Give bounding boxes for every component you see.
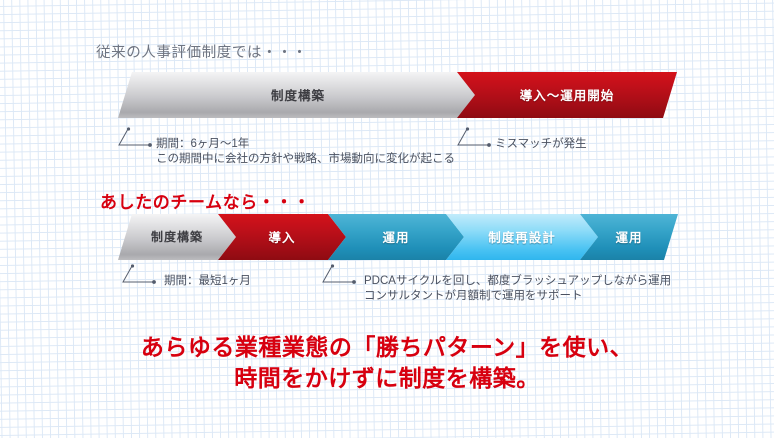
- summary-headline-text-2: 時間をかけずに制度を構築。: [232, 363, 542, 394]
- ashita-segment-label-5: 運用: [615, 227, 642, 246]
- summary-headline-line-2: 時間をかけずに制度を構築。: [0, 363, 774, 394]
- leader-line-icon: [122, 264, 162, 286]
- ashita-callout-pdca-line2: コンサルタントが月額制で運用をサポート: [364, 289, 671, 304]
- legacy-callout-mismatch-line1: ミスマッチが発生: [495, 138, 587, 150]
- leader-line-icon: [457, 127, 497, 149]
- legacy-process-bar: 制度構築 導入〜運用開始: [0, 72, 774, 120]
- ashita-segment-label-3: 運用: [382, 227, 409, 246]
- legacy-section-heading: 従来の人事評価制度では・・・: [96, 41, 307, 62]
- ashita-callout-duration-text: 期間：最短1ヶ月: [164, 274, 251, 289]
- summary-headline: あらゆる業種業態の「勝ちパターン」を使い、 時間をかけずに制度を構築。: [0, 332, 774, 394]
- legacy-segment-seido-kouchiku: 制度構築: [118, 72, 478, 118]
- ashita-callout-duration-line1: 期間：最短1ヶ月: [164, 275, 251, 287]
- ashita-segment-label-4: 制度再設計: [488, 227, 556, 246]
- legacy-segment-label-1: 制度構築: [271, 85, 325, 104]
- legacy-callout-duration-line2: この期間中に会社の方針や戦略、市場動向に変化が起こる: [156, 152, 455, 167]
- ashita-section-heading: あしたのチームなら・・・: [100, 188, 311, 213]
- ashita-segment-label-1: 制度構築: [151, 228, 203, 245]
- legacy-callout-mismatch-text: ミスマッチが発生: [495, 137, 587, 152]
- ashita-callout-pdca-text: PDCAサイクルを回し、都度ブラッシュアップしながら運用 コンサルタントが月額制…: [364, 274, 671, 304]
- ashita-process-bar: 制度構築 導入 運用 制度再設計 運用: [0, 214, 774, 262]
- ashita-segment-seido-sai-sekkei: 制度再設計: [446, 214, 598, 260]
- summary-headline-line-1: あらゆる業種業態の「勝ちパターン」を使い、: [0, 332, 774, 363]
- ashita-segment-dounyu: 導入: [218, 214, 346, 260]
- ashita-segment-label-2: 導入: [268, 227, 295, 246]
- leader-line-icon: [118, 127, 158, 149]
- ashita-segment-unyou-1: 運用: [328, 214, 464, 260]
- ashita-callout-pdca-line1: PDCAサイクルを回し、都度ブラッシュアップしながら運用: [364, 275, 671, 287]
- legacy-callout-duration-text: 期間：6ヶ月〜1年 この期間中に会社の方針や戦略、市場動向に変化が起こる: [156, 137, 455, 167]
- slide-content: 従来の人事評価制度では・・・ 制度構築 導入〜運用開始 期間：6ヶ月〜1年 この…: [0, 0, 774, 438]
- legacy-callout-duration-line1: 期間：6ヶ月〜1年: [156, 138, 249, 150]
- ashita-segment-seido-kouchiku: 制度構築: [118, 214, 236, 260]
- legacy-segment-dounyu-unyou: 導入〜運用開始: [457, 72, 677, 118]
- summary-headline-text-1: あらゆる業種業態の「勝ちパターン」を使い、: [139, 332, 635, 363]
- legacy-segment-label-2: 導入〜運用開始: [520, 85, 615, 104]
- leader-line-icon: [322, 264, 362, 286]
- slide-canvas: 従来の人事評価制度では・・・ 制度構築 導入〜運用開始 期間：6ヶ月〜1年 この…: [0, 0, 774, 438]
